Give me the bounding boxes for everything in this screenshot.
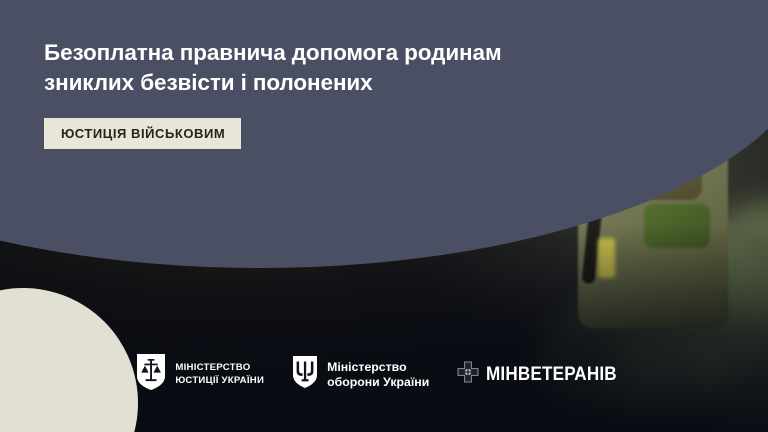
logo-justice-line2: ЮСТИЦІЇ УКРАЇНИ [175, 375, 264, 386]
justice-scales-shield-icon [136, 353, 166, 396]
hero-content: Безоплатна правнича допомога родинам зни… [44, 38, 564, 149]
page-title: Безоплатна правнича допомога родинам зни… [44, 38, 564, 97]
status-badge: ЮСТИЦІЯ ВІЙСЬКОВИМ [44, 118, 241, 149]
minveteraniv-cross-emblem-icon [457, 361, 479, 388]
logo-justice-line1: МІНІСТЕРСТВО [175, 362, 250, 373]
logo-defence-text: Міністерство оборони України [327, 360, 429, 390]
trident-shield-icon [292, 355, 318, 394]
logo-bar: МІНІСТЕРСТВО ЮСТИЦІЇ УКРАЇНИ Міністерств… [0, 353, 768, 396]
logo-defence-line2: оборони України [327, 375, 429, 389]
logo-ministry-of-justice: МІНІСТЕРСТВО ЮСТИЦІЇ УКРАЇНИ [136, 353, 264, 396]
minveteraniv-wordmark: МІНВЕТЕРАНІВ [486, 364, 617, 386]
logo-justice-text: МІНІСТЕРСТВО ЮСТИЦІЇ УКРАЇНИ [175, 362, 264, 387]
logo-defence-line1: Міністерство [327, 360, 407, 374]
banner-canvas: Безоплатна правнича допомога родинам зни… [0, 0, 768, 432]
logo-ministry-of-defence: Міністерство оборони України [292, 355, 429, 394]
logo-minveteraniv: МІНВЕТЕРАНІВ [457, 361, 631, 388]
